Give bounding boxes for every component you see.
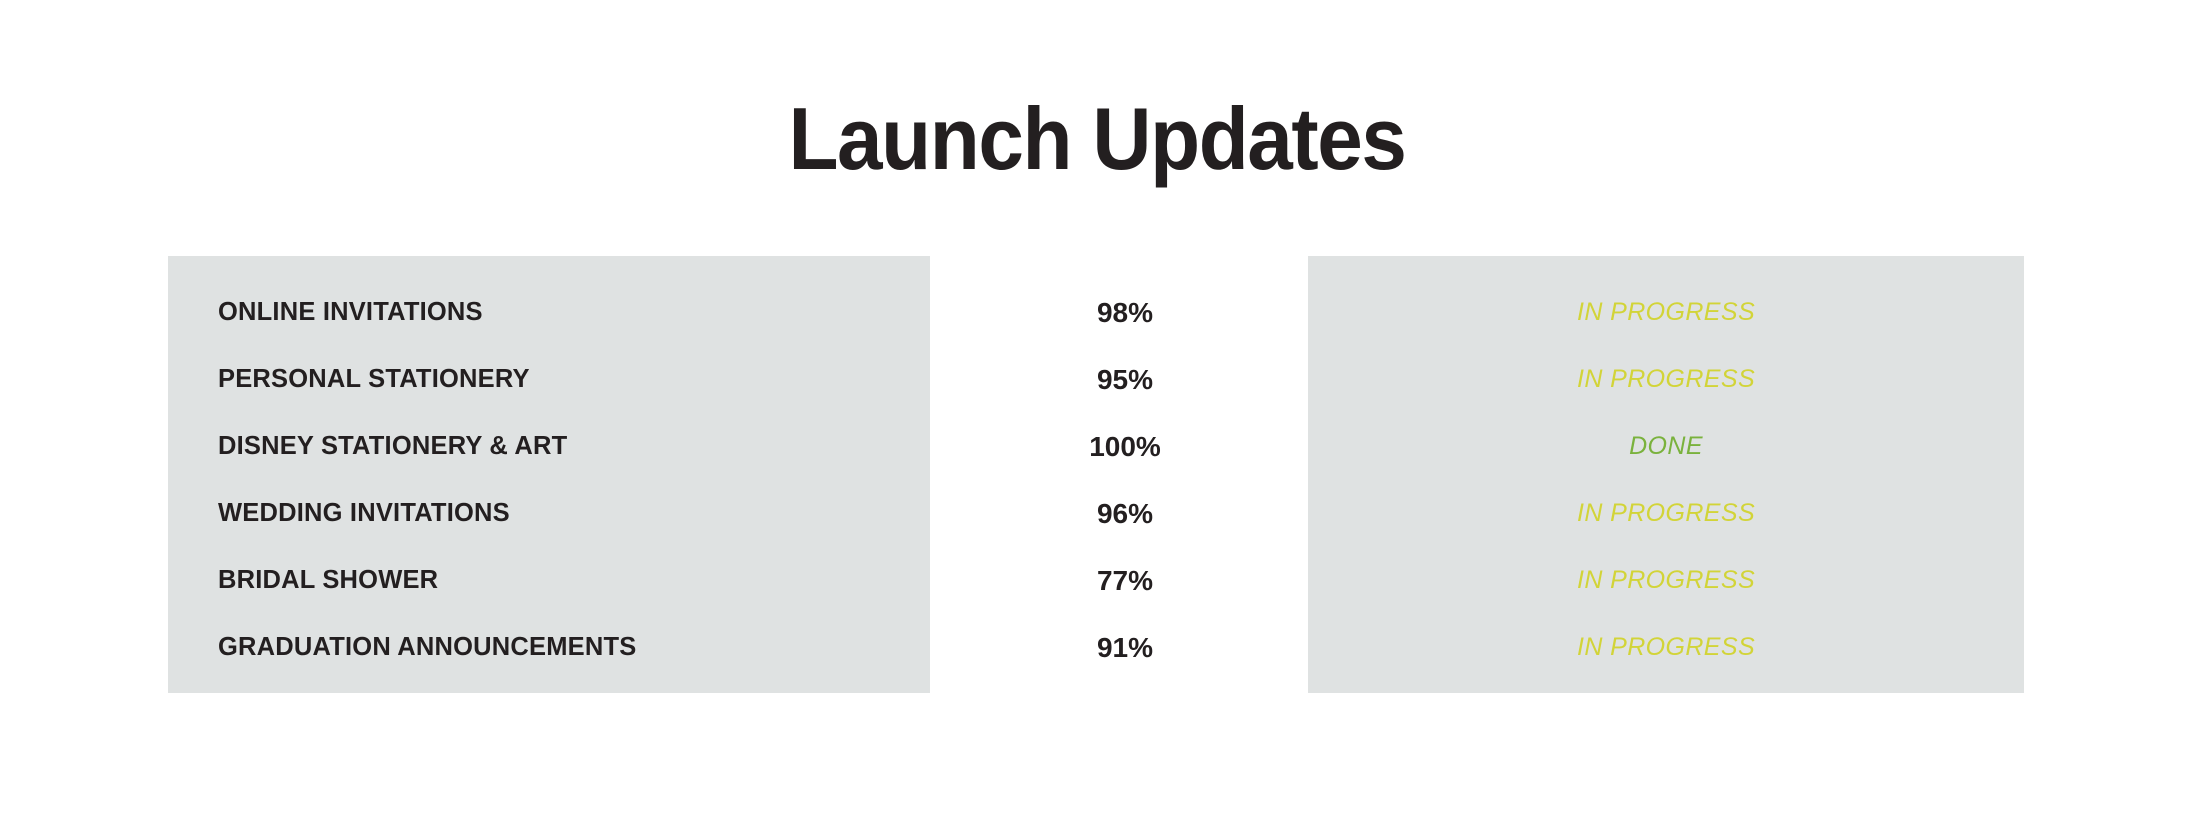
table-row: DISNEY STATIONERY & ART100%DONE <box>0 413 2194 480</box>
page-title: Launch Updates <box>77 95 2117 183</box>
table-row: BRIDAL SHOWER77%IN PROGRESS <box>0 547 2194 614</box>
status-badge: IN PROGRESS <box>1380 480 1952 547</box>
status-badge: IN PROGRESS <box>1380 547 1952 614</box>
table-row: WEDDING INVITATIONS96%IN PROGRESS <box>0 480 2194 547</box>
row-label: GRADUATION ANNOUNCEMENTS <box>218 614 908 681</box>
row-label: BRIDAL SHOWER <box>218 547 908 614</box>
table-row: PERSONAL STATIONERY95%IN PROGRESS <box>0 346 2194 413</box>
row-label: WEDDING INVITATIONS <box>218 480 908 547</box>
status-badge: IN PROGRESS <box>1380 614 1952 681</box>
row-label: ONLINE INVITATIONS <box>218 279 908 346</box>
table-row: ONLINE INVITATIONS98%IN PROGRESS <box>0 279 2194 346</box>
status-badge: DONE <box>1380 413 1952 480</box>
status-badge: IN PROGRESS <box>1380 279 1952 346</box>
status-badge: IN PROGRESS <box>1380 346 1952 413</box>
table-row: GRADUATION ANNOUNCEMENTS91%IN PROGRESS <box>0 614 2194 681</box>
row-percent: 96% <box>1000 480 1250 547</box>
row-percent: 77% <box>1000 547 1250 614</box>
row-percent: 91% <box>1000 614 1250 681</box>
updates-table: ONLINE INVITATIONS98%IN PROGRESSPERSONAL… <box>0 256 2194 693</box>
row-percent: 100% <box>1000 413 1250 480</box>
slide-canvas: Launch Updates ONLINE INVITATIONS98%IN P… <box>0 0 2194 821</box>
row-percent: 95% <box>1000 346 1250 413</box>
row-percent: 98% <box>1000 279 1250 346</box>
row-label: DISNEY STATIONERY & ART <box>218 413 908 480</box>
row-label: PERSONAL STATIONERY <box>218 346 908 413</box>
